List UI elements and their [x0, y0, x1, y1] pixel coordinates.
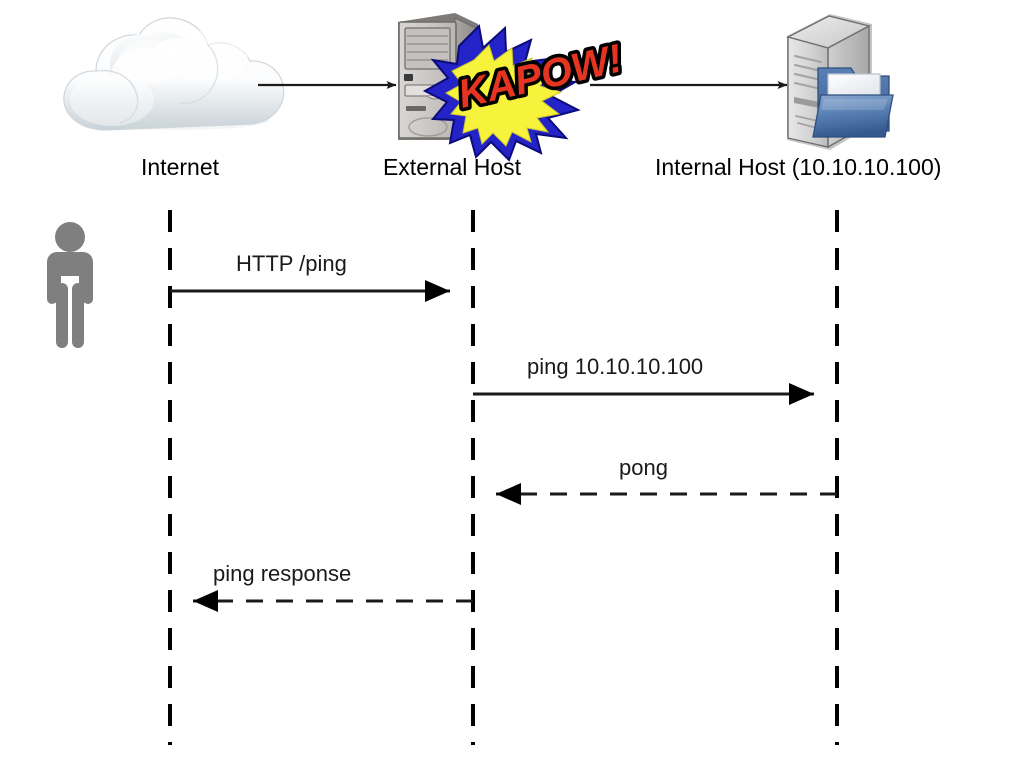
message-label-pong: pong [619, 457, 668, 479]
message-label-ping-response: ping response [213, 563, 351, 585]
sequence-layer [0, 0, 1024, 768]
person-icon [47, 222, 93, 348]
message-label-ping-internal: ping 10.10.10.100 [527, 356, 703, 378]
sequence-diagram-canvas: KAPOW! KAPOW! [0, 0, 1024, 768]
message-label-http-ping: HTTP /ping [236, 253, 347, 275]
